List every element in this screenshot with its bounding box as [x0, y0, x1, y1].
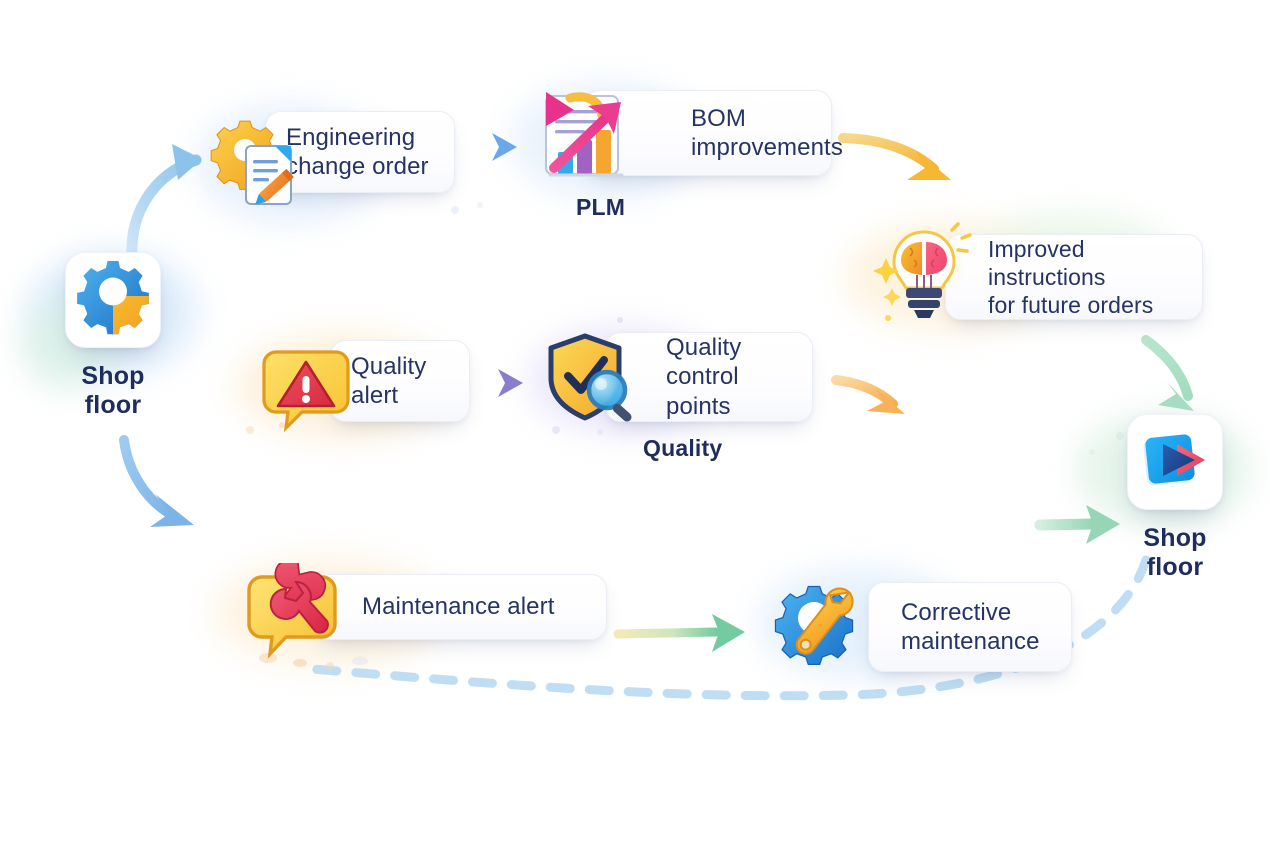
group-label-plm: PLM [576, 194, 625, 221]
arrow-quality-alert-to-quality-control-points [470, 369, 523, 397]
node-shop-floor-right[interactable]: Shop floor [1114, 414, 1236, 582]
corrective-maintenance-label: Corrective maintenance [883, 598, 1040, 657]
arrow-quality-control-points-to-shop-floor [836, 380, 905, 414]
shop-floor-right-caption: Shop floor [1114, 524, 1236, 582]
card-bom-improvements[interactable]: BOM improvements [584, 90, 832, 176]
card-engineering-change-order[interactable]: Engineering change order [265, 111, 455, 193]
shop-floor-left-caption: Shop floor [52, 362, 174, 420]
diagram-canvas: Shop floor Engineering change order [0, 0, 1270, 846]
shop-floor-play-icon [1137, 424, 1213, 500]
corrective-maintenance-icon-slot [766, 575, 874, 679]
shop-floor-left-tile [65, 252, 161, 348]
arrow-corrective-maintenance-to-shop-floor [1040, 505, 1120, 544]
arrow-maintenance-alert-to-corrective-maintenance [618, 614, 745, 652]
group-label-quality: Quality [643, 435, 722, 462]
card-maintenance-alert[interactable]: Maintenance alert [315, 574, 607, 640]
arrow-shop-floor-to-engineering-change-order [132, 144, 202, 255]
card-corrective-maintenance[interactable]: Corrective maintenance [868, 582, 1072, 672]
card-quality-control-points[interactable]: Quality control points [605, 332, 813, 422]
card-quality-alert[interactable]: Quality alert [330, 340, 470, 422]
gear-icon [74, 261, 152, 339]
engineering-change-order-label: Engineering change order [280, 123, 429, 182]
gear-wrench-icon [766, 575, 874, 679]
node-shop-floor-left[interactable]: Shop floor [52, 252, 174, 420]
arrow-shop-floor-to-maintenance-alert [124, 440, 194, 527]
arrow-bom-improvements-to-improved-instructions [843, 138, 951, 180]
arrow-engineering-change-order-to-bom-improvements [461, 133, 517, 161]
improved-instructions-label: Improved instructions for future orders [960, 235, 1182, 319]
shop-floor-right-tile [1127, 414, 1223, 510]
arrow-improved-instructions-to-shop-floor [1146, 340, 1194, 411]
bom-improvements-label: BOM improvements [599, 104, 843, 163]
quality-control-points-label: Quality control points [620, 333, 792, 421]
maintenance-alert-label: Maintenance alert [330, 592, 554, 621]
card-improved-instructions[interactable]: Improved instructions for future orders [945, 234, 1203, 320]
quality-alert-label: Quality alert [345, 352, 426, 411]
